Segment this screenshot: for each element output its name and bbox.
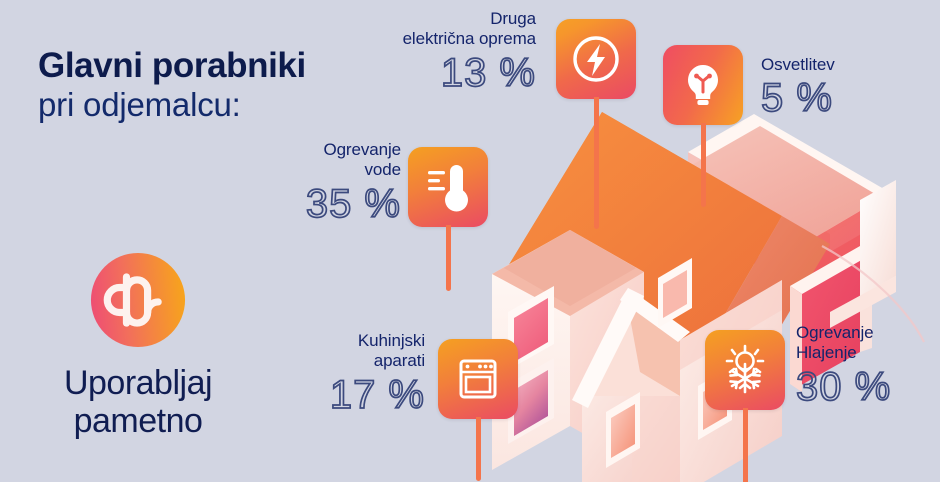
badge-heating-cooling[interactable]	[705, 330, 785, 410]
pin-stem	[446, 225, 451, 291]
percent-value: 35 %	[306, 183, 401, 225]
label-water-heating: Ogrevanje vode 35 %	[306, 140, 401, 225]
label-kitchen-appliances: Kuhinjski aparati 17 %	[330, 331, 425, 416]
isometric-house-illustration	[430, 96, 940, 482]
caption-line1: Osvetlitev	[761, 55, 835, 75]
pin-stem	[476, 417, 481, 481]
percent-value: 5 %	[761, 77, 835, 119]
callout-heating-cooling[interactable]	[705, 330, 785, 410]
title-bold-line: Glavni porabniki	[38, 46, 306, 86]
caption-line2: električna oprema	[403, 29, 536, 49]
caption-line2: aparati	[330, 351, 425, 371]
pin-stem	[743, 408, 748, 482]
caption-line1: Kuhinjski	[330, 331, 425, 351]
caption-line1: Ogrevanje	[796, 323, 891, 343]
caption-line1: Druga	[403, 9, 536, 29]
percent-value: 13 %	[403, 52, 536, 94]
caption-line2: vode	[306, 160, 401, 180]
lightning-bolt-icon	[556, 19, 636, 99]
callout-kitchen-appliances[interactable]	[438, 339, 518, 419]
thermometer-icon	[408, 147, 488, 227]
light-bulb-icon	[663, 45, 743, 125]
caption-line1: Ogrevanje	[306, 140, 401, 160]
pin-stem	[594, 97, 599, 229]
brand-name: Uporabljaj pametno	[12, 364, 264, 440]
badge-water-heating[interactable]	[408, 147, 488, 227]
brand-name-line1: Uporabljaj	[12, 364, 264, 402]
label-other-electrical: Druga električna oprema 13 %	[403, 9, 536, 94]
callout-water-heating[interactable]	[408, 147, 488, 227]
percent-value: 30 %	[796, 366, 891, 408]
title-regular-line: pri odjemalcu:	[38, 86, 306, 125]
pin-stem	[701, 123, 706, 207]
infographic-canvas: Glavni porabniki pri odjemalcu: Uporablj…	[0, 0, 940, 482]
callout-other-electrical[interactable]	[556, 19, 636, 99]
sun-snowflake-icon	[705, 330, 785, 410]
brand-name-line2: pametno	[12, 402, 264, 440]
brand-logo-block: Uporabljaj pametno	[12, 252, 264, 440]
callout-lighting[interactable]	[663, 45, 743, 125]
stove-icon	[438, 339, 518, 419]
page-title: Glavni porabniki pri odjemalcu:	[38, 46, 306, 125]
label-lighting: Osvetlitev 5 %	[761, 55, 835, 120]
percent-value: 17 %	[330, 374, 425, 416]
badge-kitchen-appliances[interactable]	[438, 339, 518, 419]
uporabljaj-pametno-circle-logo	[90, 252, 186, 348]
badge-other-electrical[interactable]	[556, 19, 636, 99]
badge-lighting[interactable]	[663, 45, 743, 125]
caption-line2: Hlajenje	[796, 343, 891, 363]
label-heating-cooling: Ogrevanje Hlajenje 30 %	[796, 323, 891, 408]
